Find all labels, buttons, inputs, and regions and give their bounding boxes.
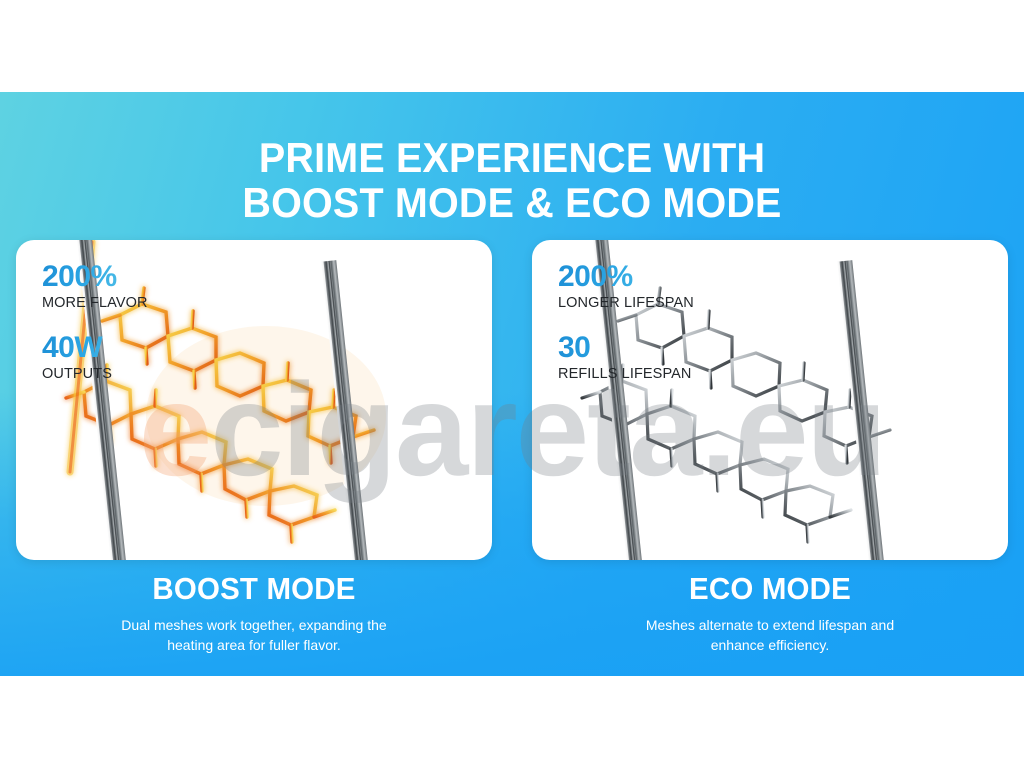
caption-body-line-1: Dual meshes work together, expanding the [16, 615, 492, 635]
mode-card-row: 200% MORE FLAVOR 40W OUTPUTS [16, 240, 1008, 560]
stat-label: OUTPUTS [42, 366, 148, 382]
stat-item: 200% MORE FLAVOR [42, 262, 148, 311]
caption-body: Dual meshes work together, expanding the… [16, 615, 492, 656]
eco-mode-caption: ECO MODE Meshes alternate to extend life… [532, 572, 1008, 656]
page-title-line-2: BOOST MODE & ECO MODE [31, 181, 994, 226]
stat-label: MORE FLAVOR [42, 295, 148, 311]
stat-label: REFILLS LIFESPAN [558, 366, 694, 382]
page-title: PRIME EXPERIENCE WITH BOOST MODE & ECO M… [31, 136, 994, 226]
eco-mode-card[interactable]: 200% LONGER LIFESPAN 30 REFILLS LIFESPAN [532, 240, 1008, 560]
boost-mode-card[interactable]: 200% MORE FLAVOR 40W OUTPUTS [16, 240, 492, 560]
eco-stat-list: 200% LONGER LIFESPAN 30 REFILLS LIFESPAN [558, 262, 694, 382]
caption-body-line-2: enhance efficiency. [532, 635, 1008, 655]
page-title-line-1: PRIME EXPERIENCE WITH [31, 136, 994, 181]
stat-value: 30 [558, 333, 694, 363]
caption-title: ECO MODE [544, 572, 996, 606]
caption-title: BOOST MODE [28, 572, 480, 606]
stat-label: LONGER LIFESPAN [558, 295, 694, 311]
stat-value: 200% [42, 262, 148, 292]
mode-caption-row: BOOST MODE Dual meshes work together, ex… [16, 572, 1008, 656]
caption-body-line-2: heating area for fuller flavor. [16, 635, 492, 655]
stat-item: 200% LONGER LIFESPAN [558, 262, 694, 311]
stat-item: 40W OUTPUTS [42, 333, 148, 382]
promo-banner-page: PRIME EXPERIENCE WITH BOOST MODE & ECO M… [0, 0, 1024, 768]
stat-value: 40W [42, 333, 148, 363]
stat-value: 200% [558, 262, 694, 292]
boost-stat-list: 200% MORE FLAVOR 40W OUTPUTS [42, 262, 148, 382]
caption-body: Meshes alternate to extend lifespan and … [532, 615, 1008, 656]
blue-gradient-banner: PRIME EXPERIENCE WITH BOOST MODE & ECO M… [0, 92, 1024, 676]
stat-item: 30 REFILLS LIFESPAN [558, 333, 694, 382]
boost-mode-caption: BOOST MODE Dual meshes work together, ex… [16, 572, 492, 656]
caption-body-line-1: Meshes alternate to extend lifespan and [532, 615, 1008, 635]
